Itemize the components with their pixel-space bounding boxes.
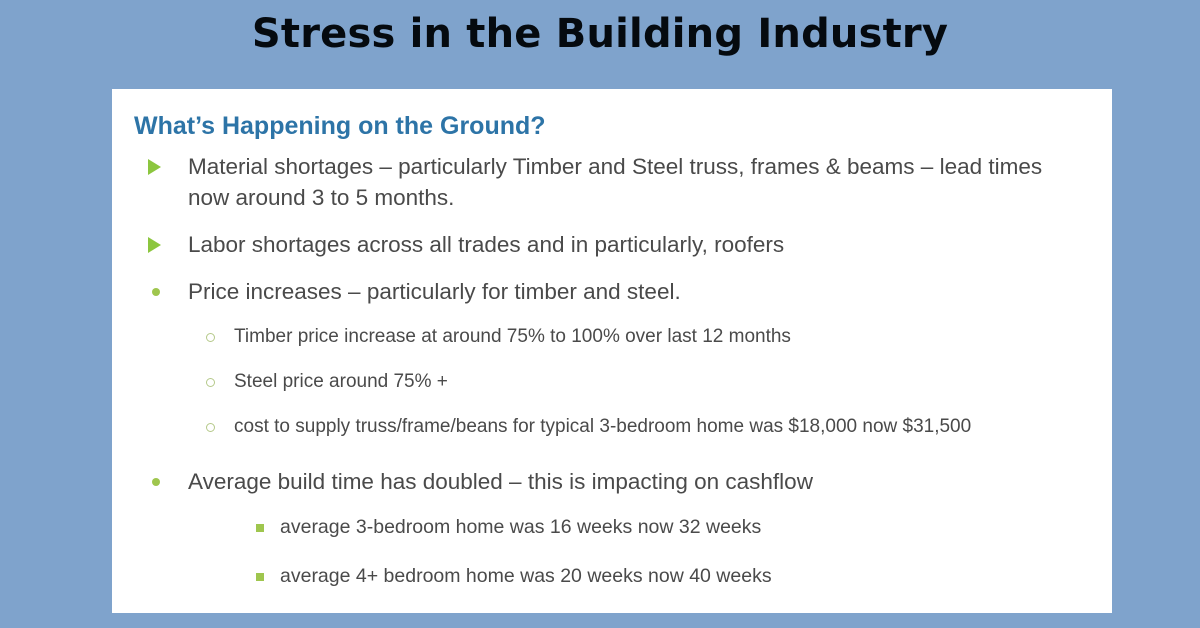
list-item: Material shortages – particularly Timber… [130,151,1086,213]
list-item: cost to supply truss/frame/beans for typ… [130,413,1086,440]
list-item-label: cost to supply truss/frame/beans for typ… [234,416,971,437]
list-item-label: Price increases – particularly for timbe… [188,279,681,304]
green-dot-icon [152,288,160,296]
list-item: Average build time has doubled – this is… [130,466,1086,497]
list-item: Labor shortages across all trades and in… [130,229,1086,260]
green-hollow-circle-icon [206,333,215,342]
green-triangle-icon [148,237,161,253]
list-item-label: Material shortages – particularly Timber… [188,154,1042,210]
list-item: Timber price increase at around 75% to 1… [130,323,1086,350]
green-hollow-circle-icon [206,378,215,387]
green-triangle-icon [148,159,161,175]
list-item-label: Labor shortages across all trades and in… [188,232,784,257]
list-item-label: average 3-bedroom home was 16 weeks now … [280,516,761,538]
green-square-icon [256,524,264,532]
slide-canvas: Stress in the Building Industry What’s H… [0,0,1200,628]
list-item-label: Timber price increase at around 75% to 1… [234,326,791,347]
list-item-label: Steel price around 75% + [234,371,448,392]
slide-title: Stress in the Building Industry [0,12,1200,56]
content-card: What’s Happening on the Ground? Material… [112,89,1112,613]
green-square-icon [256,573,264,581]
green-dot-icon [152,478,160,486]
list-item-label: Average build time has doubled – this is… [188,469,813,494]
list-item: Steel price around 75% + [130,368,1086,395]
card-heading: What’s Happening on the Ground? [134,111,1086,141]
bullet-list: Material shortages – particularly Timber… [130,151,1086,590]
list-item: average 3-bedroom home was 16 weeks now … [130,513,1086,541]
list-item: Price increases – particularly for timbe… [130,276,1086,307]
list-item: average 4+ bedroom home was 20 weeks now… [130,562,1086,590]
green-hollow-circle-icon [206,423,215,432]
list-item-label: average 4+ bedroom home was 20 weeks now… [280,565,772,587]
